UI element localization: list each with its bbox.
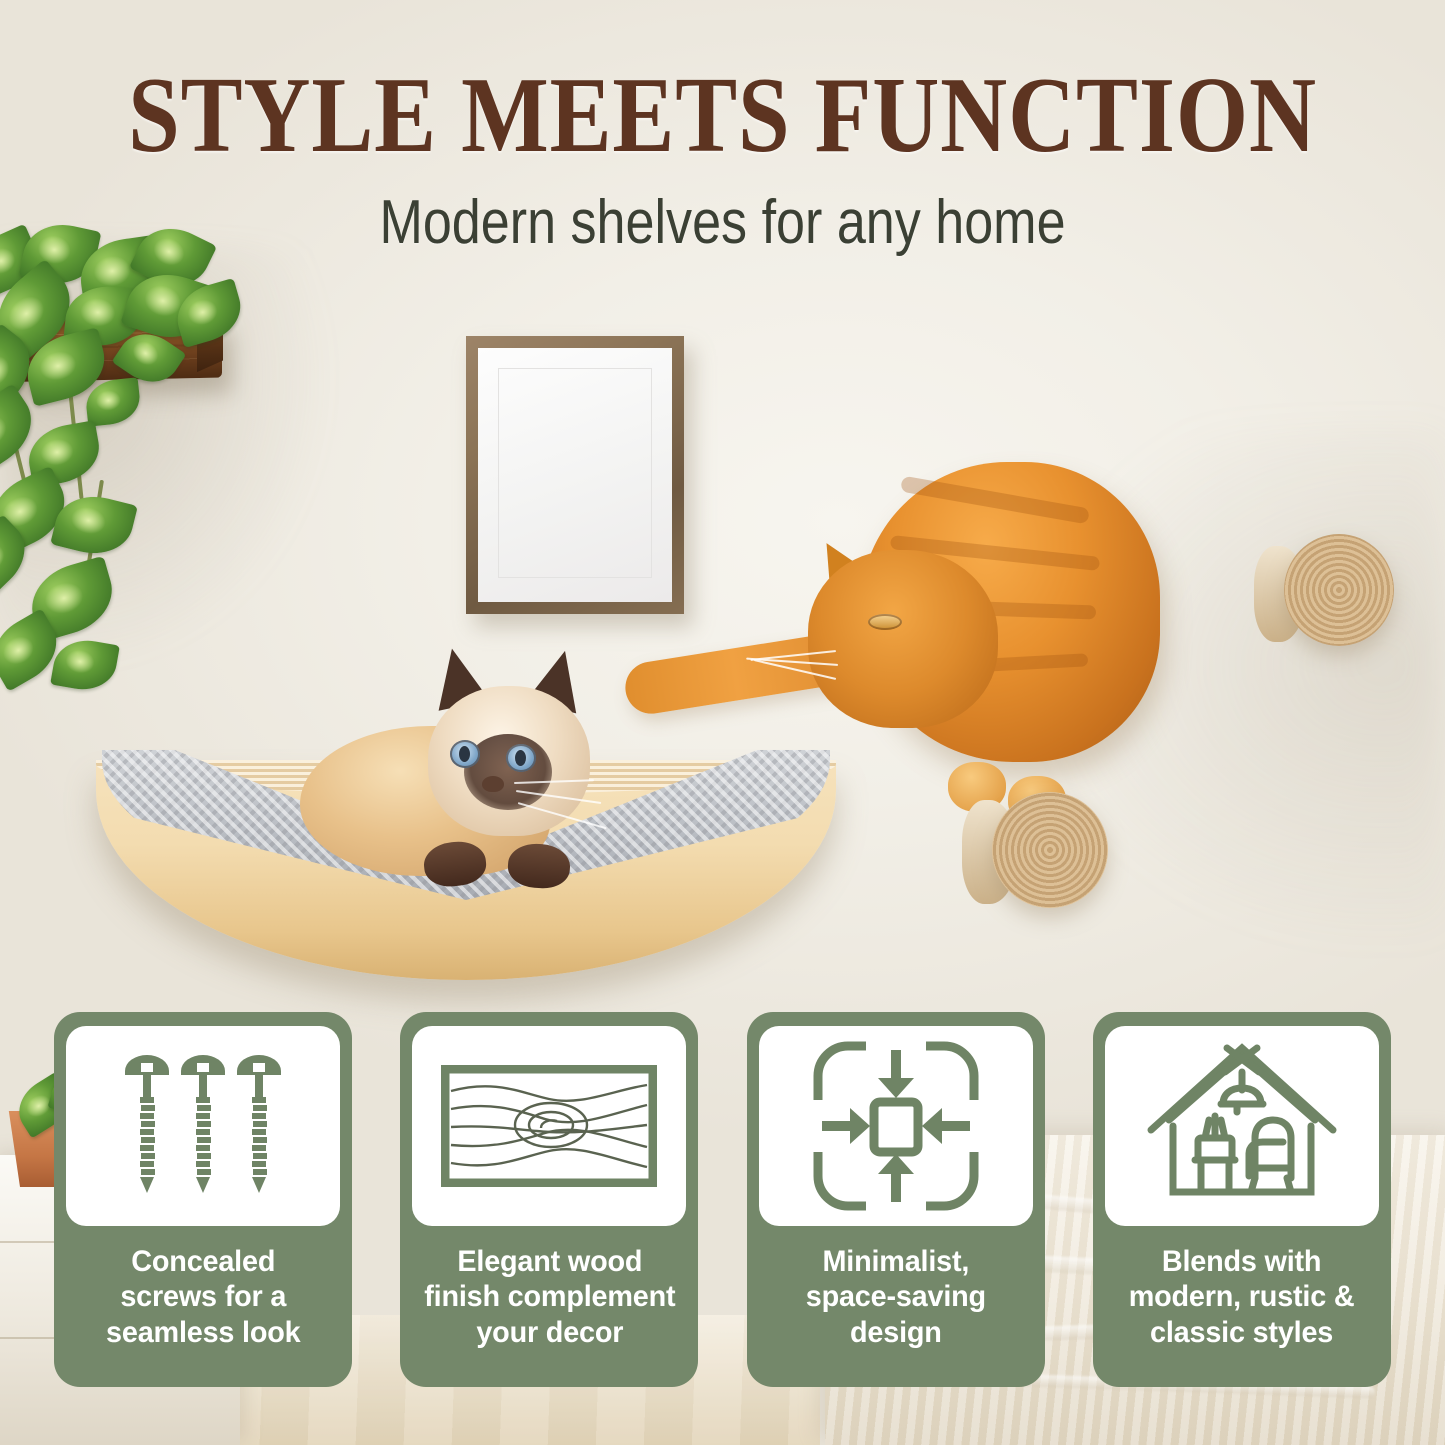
feature-card-row: Concealed screws for a seamless look (54, 1012, 1391, 1387)
feature-icon-tile (412, 1026, 686, 1226)
cat-head (808, 550, 998, 728)
feature-icon-tile (1105, 1026, 1379, 1226)
cat-eye (868, 614, 902, 630)
feature-label-line: Elegant wood (457, 1245, 642, 1278)
product-marketing-poster: STYLE MEETS FUNCTION Modern shelves for … (0, 0, 1445, 1445)
feature-label-line: screws for a (120, 1280, 286, 1313)
sisal-rope-wall-step-far (1284, 534, 1394, 646)
pothos-trailing-plant (0, 230, 270, 700)
feature-label-line: Blends with (1162, 1245, 1321, 1278)
space-saving-arrows-icon (812, 1040, 980, 1212)
cat-eye (450, 740, 480, 768)
feature-label-line: space-saving (806, 1280, 986, 1313)
feature-icon-tile (66, 1026, 340, 1226)
picture-frame-mat (478, 348, 672, 602)
feature-card-blends-styles[interactable]: Blends with modern, rustic & classic sty… (1093, 1012, 1391, 1387)
sisal-rope-wall-step-near (992, 792, 1108, 908)
siamese-cat-lying-in-hammock (300, 648, 630, 918)
feature-icon-tile (759, 1026, 1033, 1226)
house-interior-icon (1143, 1042, 1341, 1210)
feature-card-space-saving[interactable]: Minimalist, space-saving design (747, 1012, 1045, 1387)
feature-label-line: Minimalist, (822, 1245, 969, 1278)
page-title: STYLE MEETS FUNCTION (101, 62, 1344, 170)
feature-label-line: seamless look (106, 1316, 300, 1349)
feature-label-line: Concealed (131, 1245, 275, 1278)
page-subtitle: Modern shelves for any home (116, 192, 1330, 254)
feature-label-line: modern, rustic & (1129, 1280, 1355, 1313)
feature-card-label: Minimalist, space-saving design (806, 1244, 986, 1350)
feature-label-line: finish complement (424, 1280, 675, 1313)
cat-nose (482, 776, 504, 792)
cat-paw (507, 842, 572, 890)
feature-card-concealed-screws[interactable]: Concealed screws for a seamless look (54, 1012, 352, 1387)
cat-eye (506, 744, 536, 772)
feature-label-line: classic styles (1150, 1316, 1333, 1349)
wood-grain-icon (441, 1065, 657, 1187)
feature-card-label: Concealed screws for a seamless look (106, 1244, 300, 1350)
feature-label-line: your decor (476, 1316, 623, 1349)
screws-icon (103, 1051, 303, 1201)
feature-card-wood-finish[interactable]: Elegant wood finish complement your deco… (400, 1012, 698, 1387)
feature-label-line: design (850, 1316, 942, 1349)
blank-wall-picture-frame (466, 336, 684, 614)
feature-card-label: Blends with modern, rustic & classic sty… (1129, 1244, 1355, 1350)
feature-card-label: Elegant wood finish complement your deco… (424, 1244, 675, 1350)
